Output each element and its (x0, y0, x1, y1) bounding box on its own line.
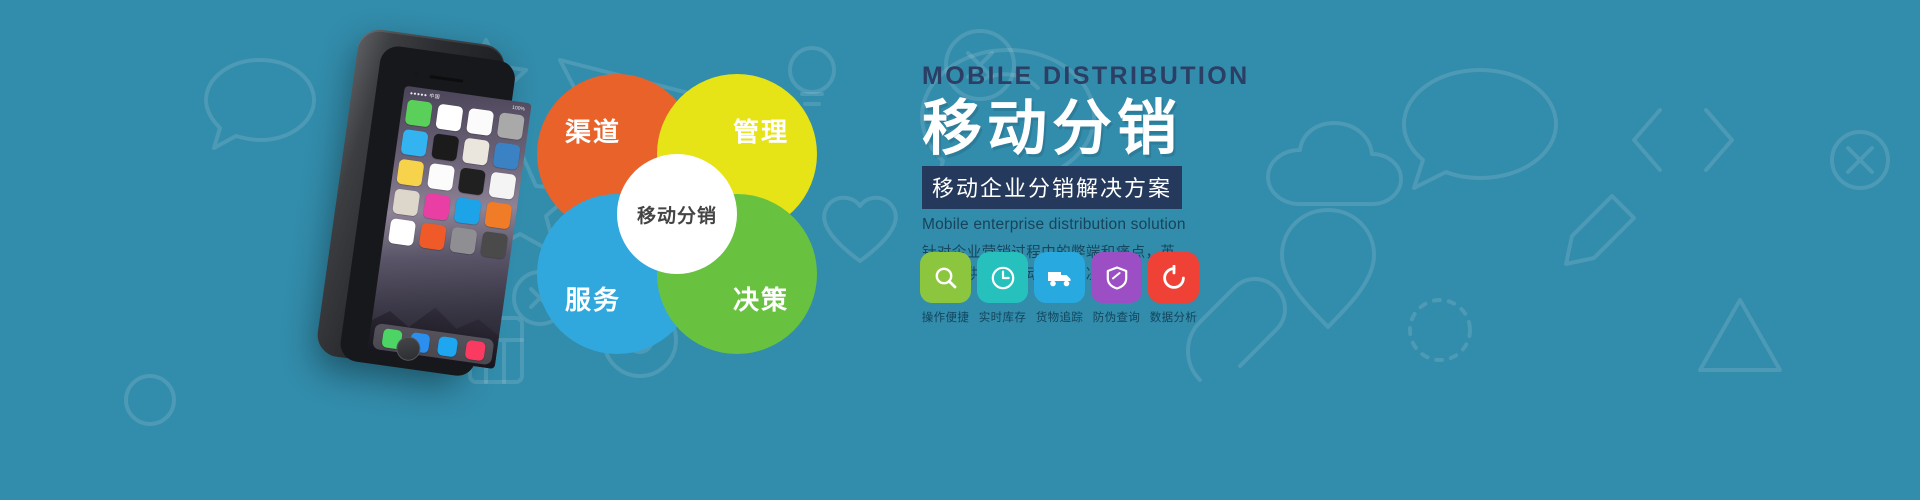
feature-tile-tracking[interactable] (1034, 252, 1085, 303)
venn-diagram: 渠道 管理 服务 决策 移动分销 (537, 74, 817, 354)
feature-tile-operation[interactable] (920, 252, 971, 303)
app-icon-health[interactable] (388, 218, 416, 246)
hero-subbar: 移动企业分销解决方案 (922, 166, 1182, 209)
feature-label-analytics: 数据分析 (1148, 309, 1199, 325)
venn-label-channel: 渠道 (565, 112, 621, 149)
phone-bezel: ●●●●● 中国 100% (338, 44, 517, 378)
feature-label-tracking: 货物追踪 (1034, 309, 1085, 325)
phone-screen: ●●●●● 中国 100% (368, 86, 532, 369)
venn-label-service: 服务 (565, 280, 621, 317)
clock-icon (990, 265, 1016, 291)
feature-item-analytics[interactable]: 数据分析 (1148, 252, 1199, 325)
hero-kicker: MOBILE DISTRIBUTION (922, 64, 1402, 89)
app-icon-passbook[interactable] (419, 222, 447, 250)
phone-body: ●●●●● 中国 100% (315, 27, 507, 374)
app-icon-notes[interactable] (396, 159, 424, 187)
truck-icon (1046, 265, 1074, 291)
earpiece-speaker (429, 75, 463, 83)
venn-center-label: 移动分销 (617, 154, 737, 274)
venn-label-management: 管理 (733, 112, 789, 149)
home-screen-app-grid (388, 99, 525, 259)
feature-label-operation: 操作便捷 (920, 309, 971, 325)
app-icon-appstore[interactable] (453, 197, 481, 225)
feature-item-operation[interactable]: 操作便捷 (920, 252, 971, 325)
app-icon-settings[interactable] (449, 227, 477, 255)
app-icon-gamecenter[interactable] (488, 172, 516, 200)
app-icon-calendar[interactable] (435, 104, 463, 132)
app-icon-messages[interactable] (405, 99, 433, 127)
shield-icon (1104, 265, 1130, 291)
app-icon-itunes[interactable] (423, 193, 451, 221)
app-icon-clock[interactable] (431, 133, 459, 161)
app-icon-wallet[interactable] (480, 231, 508, 259)
app-icon-ibooks[interactable] (484, 201, 512, 229)
app-icon-newsstand[interactable] (392, 188, 420, 216)
feature-label-inventory: 实时库存 (977, 309, 1028, 325)
feature-item-tracking[interactable]: 货物追踪 (1034, 252, 1085, 325)
app-icon-reminders[interactable] (427, 163, 455, 191)
dock-icon-safari[interactable] (436, 335, 457, 356)
app-icon-videos[interactable] (493, 142, 521, 170)
venn-label-decision: 决策 (733, 280, 789, 317)
feature-tile-inventory[interactable] (977, 252, 1028, 303)
app-icon-maps[interactable] (462, 138, 490, 166)
feature-item-inventory[interactable]: 实时库存 (977, 252, 1028, 325)
app-icon-weather[interactable] (400, 129, 428, 157)
feature-icon-row: 操作便捷 实时库存 货物追踪 (920, 252, 1199, 325)
hero-headline: 移动分销 (922, 97, 1402, 160)
feature-item-anticounterfeit[interactable]: 防伪查询 (1091, 252, 1142, 325)
feature-label-anticounterfeit: 防伪查询 (1091, 309, 1142, 325)
feature-tile-analytics[interactable] (1148, 252, 1199, 303)
status-bar-battery: 100% (512, 104, 526, 112)
feature-tile-anticounterfeit[interactable] (1091, 252, 1142, 303)
iphone-mockup: ●●●●● 中国 100% (294, 17, 532, 400)
app-icon-stocks[interactable] (458, 167, 486, 195)
front-camera-icon (414, 72, 419, 77)
dock-icon-music[interactable] (464, 339, 485, 360)
magnifier-icon (933, 265, 959, 291)
hero-sub-english: Mobile enterprise distribution solution (922, 216, 1402, 234)
status-bar-carrier: ●●●●● 中国 (409, 89, 440, 100)
app-icon-camera[interactable] (497, 112, 525, 140)
promo-banner: ●●●●● 中国 100% (0, 0, 1920, 500)
app-icon-photos[interactable] (466, 108, 494, 136)
refresh-icon (1161, 265, 1187, 291)
